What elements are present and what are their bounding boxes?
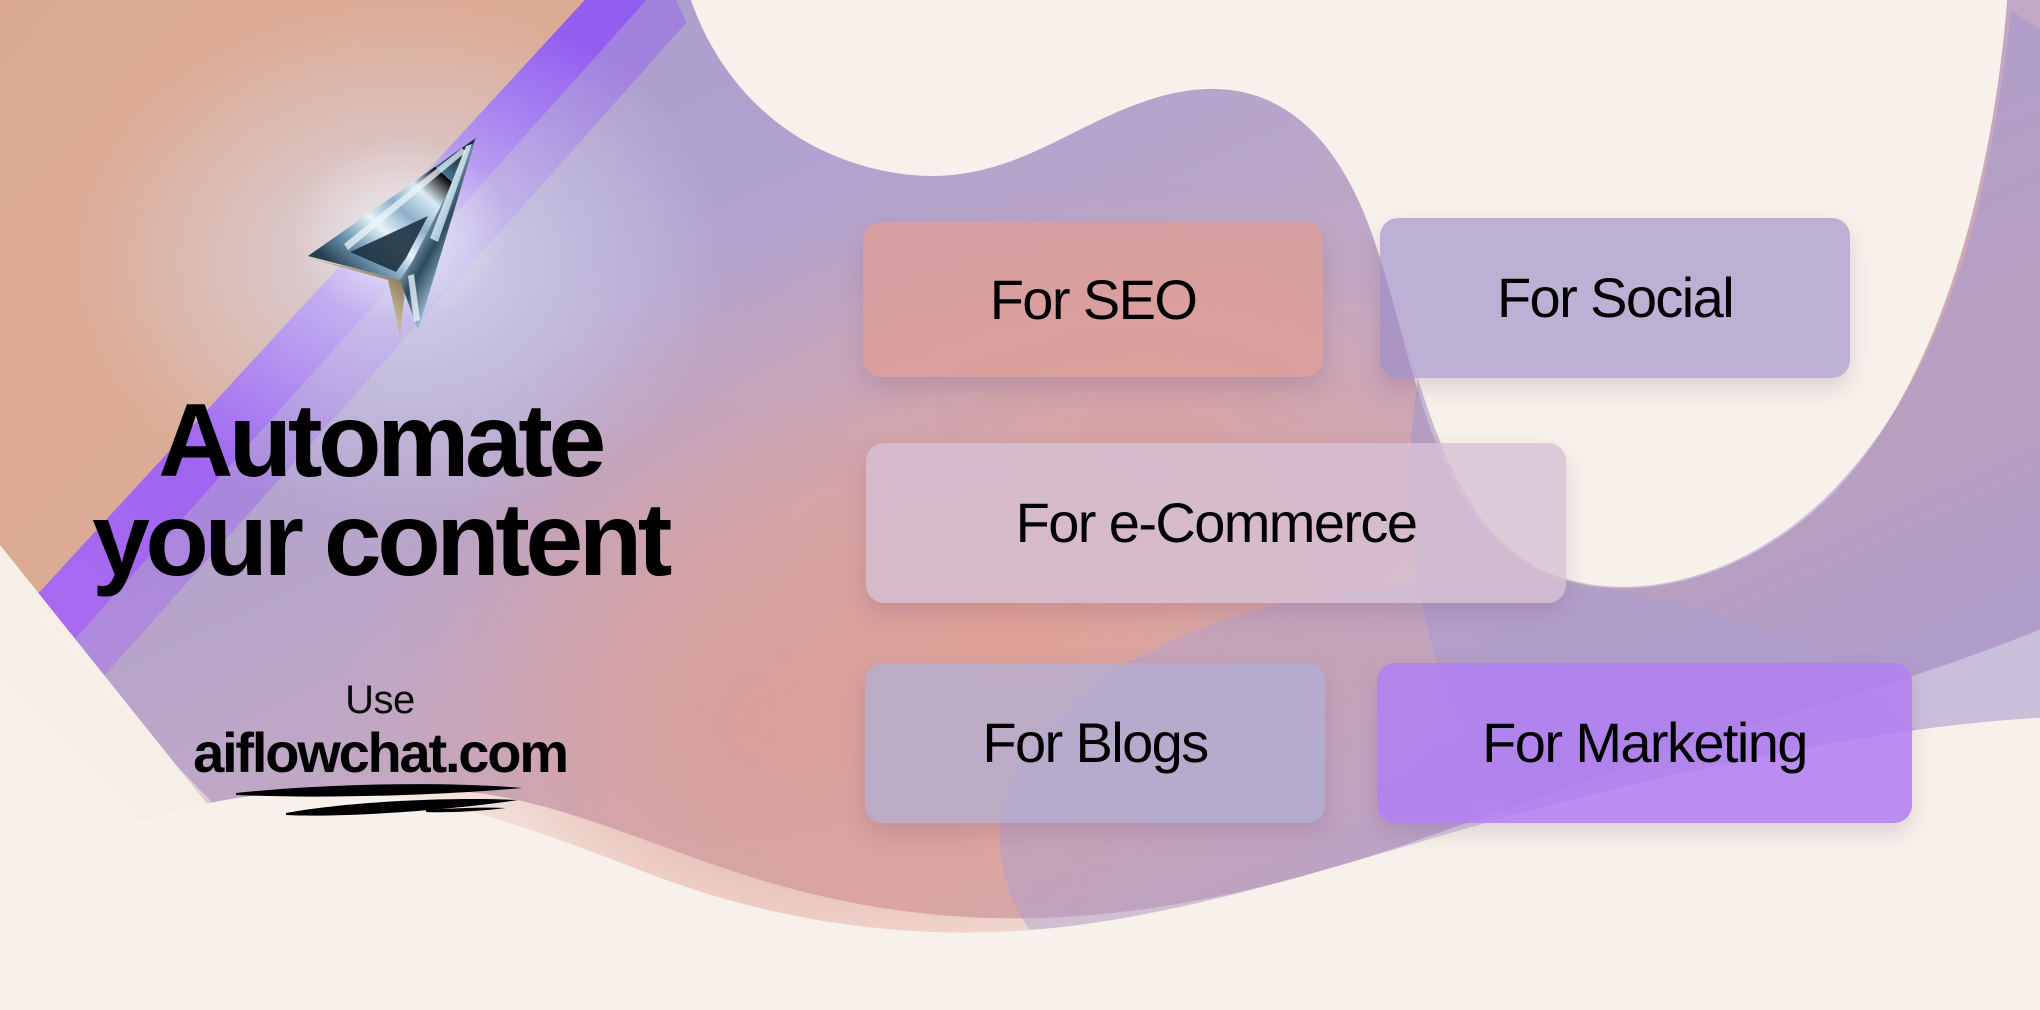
card-label-blogs: For Blogs: [982, 715, 1207, 771]
use-case-card-grid: For SEO For Social For e-Commerce For Bl…: [0, 0, 2040, 1010]
card-for-blogs[interactable]: For Blogs: [865, 663, 1325, 823]
card-label-seo: For SEO: [990, 272, 1197, 328]
card-for-ecommerce[interactable]: For e-Commerce: [866, 443, 1566, 603]
card-for-social[interactable]: For Social: [1380, 218, 1850, 378]
card-label-marketing: For Marketing: [1482, 715, 1807, 771]
card-label-social: For Social: [1497, 270, 1733, 326]
card-for-seo[interactable]: For SEO: [863, 222, 1323, 377]
card-for-marketing[interactable]: For Marketing: [1377, 663, 1912, 823]
card-label-ecommerce: For e-Commerce: [1016, 495, 1417, 551]
promo-banner: Automate your content Use aiflowchat.com…: [0, 0, 2040, 1010]
